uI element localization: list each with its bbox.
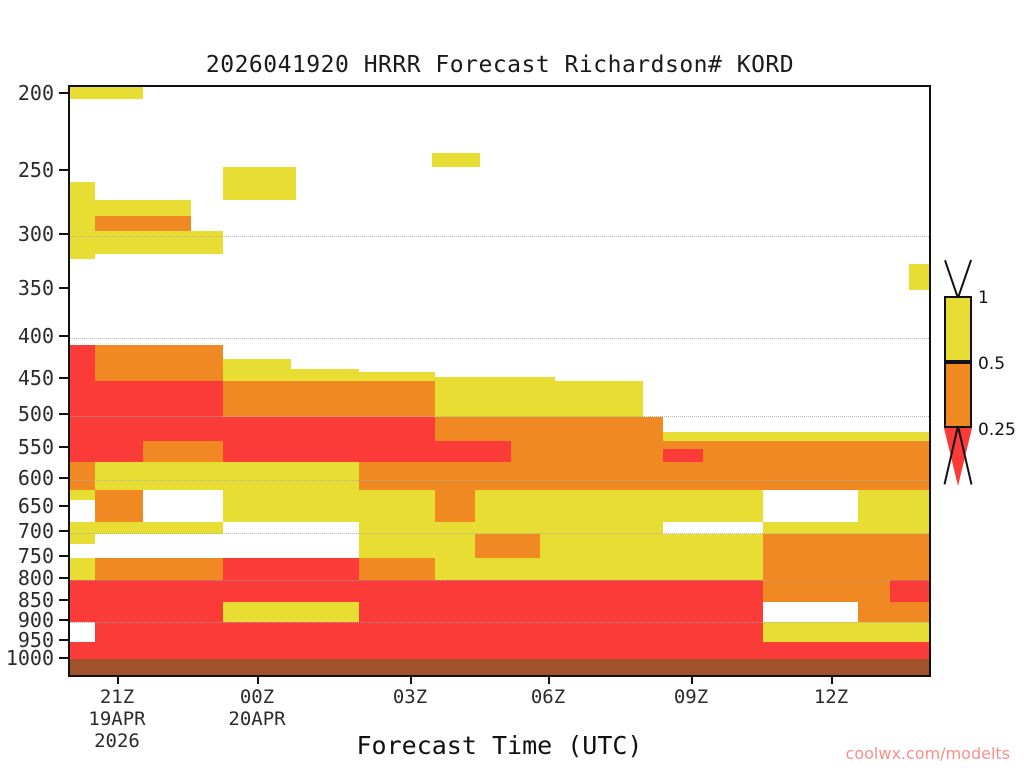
heatmap-cell [435,558,663,580]
heatmap-cell [475,490,663,522]
heatmap-cell [663,462,763,490]
heatmap-cell [858,432,931,441]
y-axis-tick [59,446,68,448]
heatmap-cell [95,200,143,216]
y-axis-tick [59,477,68,479]
y-axis-tick-label: 550 [0,435,54,459]
heatmap-cell [587,441,663,462]
heatmap-cell [143,200,191,216]
y-axis-tick [59,169,68,171]
y-axis-tick-label: 350 [0,276,54,300]
y-axis-tick-label: 200 [0,81,54,105]
heatmap-cell [359,490,435,522]
heatmap-cell [475,534,540,558]
heatmap-cell [95,602,223,622]
heatmap-plot [68,85,931,677]
x-axis-tick [831,677,833,684]
heatmap-cell [890,580,931,602]
heatmap-cell [223,490,359,522]
heatmap-cell [359,417,435,441]
y-axis-tick [59,555,68,557]
heatmap-cell [555,381,643,417]
heatmap-cell [70,642,95,659]
colorbar-legend: 10.50.25 [944,296,974,496]
heatmap-cell [143,441,223,462]
heatmap-cell [858,490,931,522]
x-axis-tick [117,677,119,684]
gridline [70,416,929,418]
gridline [70,533,929,535]
gridline [70,480,929,482]
heatmap-cell [223,417,359,441]
y-axis-tick [59,599,68,601]
y-axis-tick-label: 250 [0,158,54,182]
heatmap-cell [223,602,359,622]
x-axis-tick-label: 03Z [335,686,485,708]
heatmap-cell [70,622,95,642]
heatmap-cell [70,182,95,239]
heatmap-cell [435,441,511,462]
heatmap-cell [763,622,931,642]
y-axis-tick [59,530,68,532]
heatmap-cell [191,231,223,254]
heatmap-cell [70,345,95,381]
x-axis-tick-label: 12Z [756,686,906,708]
heatmap-cell [95,580,223,602]
heatmap-cell [291,369,359,381]
colorbar-label: 1 [978,288,989,308]
heatmap-cell [223,462,359,490]
x-axis-tick [548,677,550,684]
y-axis-tick [59,335,68,337]
heatmap-cell [223,381,291,417]
colorbar-segment-yellow [944,296,972,362]
heatmap-cell [359,441,435,462]
heatmap-cell [223,622,359,642]
heatmap-cell [223,558,359,580]
heatmap-cells [70,87,929,675]
heatmap-cell [95,231,191,254]
heatmap-cell [359,372,435,381]
heatmap-cell [70,602,95,622]
x-axis-tick [410,677,412,684]
heatmap-cell [223,167,296,200]
heatmap-cell [743,441,858,462]
heatmap-cell [223,441,359,462]
heatmap-cell [359,580,663,602]
y-axis-tick [59,505,68,507]
y-axis-tick-label: 450 [0,366,54,390]
y-axis-tick-label: 300 [0,222,54,246]
gridline [70,236,929,238]
y-axis-tick-label: 500 [0,402,54,426]
heatmap-cell [70,490,95,500]
heatmap-cell [359,558,435,580]
heatmap-cell [909,264,931,290]
x-axis-title: Forecast Time (UTC) [68,731,931,760]
y-axis-tick-label: 1000 [0,646,54,670]
heatmap-cell [143,490,223,522]
heatmap-cell [143,462,223,490]
y-axis-tick [59,287,68,289]
heatmap-cell [95,558,223,580]
heatmap-cell [95,345,143,381]
y-axis-tick-label: 800 [0,566,54,590]
heatmap-cell [70,558,95,580]
heatmap-cell [663,622,763,642]
heatmap-cell [359,642,663,659]
heatmap-cell [435,417,511,441]
heatmap-cell [643,381,931,417]
heatmap-cell [70,239,95,259]
heatmap-cell [763,642,931,659]
colorbar-label: 0.5 [978,354,1005,374]
heatmap-cell [511,417,587,441]
heatmap-cell [95,417,143,462]
heatmap-cell [143,216,191,231]
heatmap-cell [95,490,143,522]
heatmap-cell [359,602,663,622]
y-axis-tick [59,619,68,621]
heatmap-cell [359,622,663,642]
ground-band [70,659,929,675]
heatmap-cell [95,462,143,490]
heatmap-cell [223,359,291,381]
heatmap-cell [587,417,663,441]
heatmap-cell [663,602,763,622]
heatmap-cell [223,534,359,558]
heatmap-cell [663,558,763,580]
heatmap-cell [223,642,359,659]
x-axis-tick-label: 00Z20APR [182,686,332,730]
heatmap-cell [95,642,223,659]
heatmap-cell [663,490,763,522]
heatmap-cell [435,490,475,522]
heatmap-cell [95,534,223,558]
heatmap-cell [432,153,480,167]
x-axis-tick [257,677,259,684]
heatmap-cell [663,432,743,441]
gridline [70,338,929,340]
heatmap-cell [435,377,555,417]
gridline [70,580,929,582]
colorbar-label: 0.25 [978,420,1016,440]
heatmap-cell [70,462,95,490]
heatmap-cell [143,417,223,441]
heatmap-cell [70,580,95,602]
heatmap-cell [95,216,143,231]
heatmap-cell [663,580,763,602]
heatmap-cell [359,462,663,490]
heatmap-cell [663,642,763,659]
y-axis-tick [59,639,68,641]
heatmap-cell [663,417,703,432]
heatmap-cell [143,182,191,200]
y-axis-tick [59,577,68,579]
heatmap-cell [143,381,223,417]
heatmap-cell [763,558,931,580]
x-axis-tick [691,677,693,684]
heatmap-cell [70,500,95,522]
heatmap-cell [663,449,703,462]
heatmap-cell [70,534,95,544]
heatmap-cell [511,441,587,462]
heatmap-cell [663,534,763,558]
y-axis-tick-label: 700 [0,519,54,543]
watermark: coolwx.com/modelts [846,744,1010,763]
heatmap-cell [858,441,931,462]
heatmap-cell [95,622,223,642]
heatmap-cell [143,345,223,381]
y-axis-tick-label: 750 [0,544,54,568]
y-axis-tick-label: 600 [0,466,54,490]
y-axis-tick [59,377,68,379]
heatmap-cell [70,381,95,417]
y-axis: 2002503003504004505005506006507007508008… [0,85,68,677]
y-axis-tick-label: 400 [0,324,54,348]
heatmap-cell [858,602,931,622]
page-title: 2026041920 HRRR Forecast Richardson# KOR… [0,52,1000,78]
y-axis-tick [59,657,68,659]
heatmap-cell [763,462,931,490]
heatmap-cell [70,417,95,462]
heatmap-cell [743,432,858,441]
heatmap-cell [359,381,435,417]
y-axis-tick [59,233,68,235]
heatmap-cell [763,534,931,558]
heatmap-cell [291,381,359,417]
heatmap-cell [95,381,143,417]
y-axis-tick-label: 650 [0,494,54,518]
heatmap-cell [95,182,143,200]
heatmap-cell [70,87,143,99]
gridline [70,622,929,624]
colorbar-segment-orange [944,362,972,428]
x-axis-tick-label: 06Z [473,686,623,708]
y-axis-tick [59,413,68,415]
x-axis-tick-label: 09Z [616,686,766,708]
heatmap-cell [703,417,743,432]
heatmap-cell [223,580,359,602]
y-axis-tick [59,92,68,94]
